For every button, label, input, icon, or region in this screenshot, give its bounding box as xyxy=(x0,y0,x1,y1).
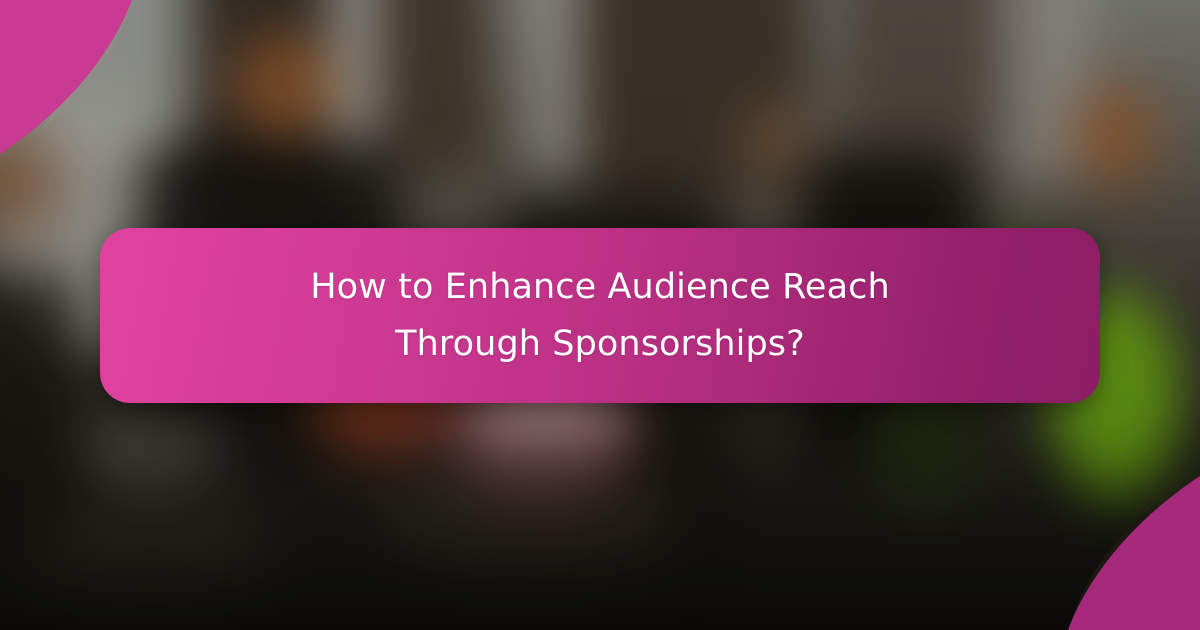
share-card-canvas: How to Enhance Audience Reach Through Sp… xyxy=(0,0,1200,630)
page-title: How to Enhance Audience Reach Through Sp… xyxy=(240,259,960,373)
title-card: How to Enhance Audience Reach Through Sp… xyxy=(100,228,1100,403)
